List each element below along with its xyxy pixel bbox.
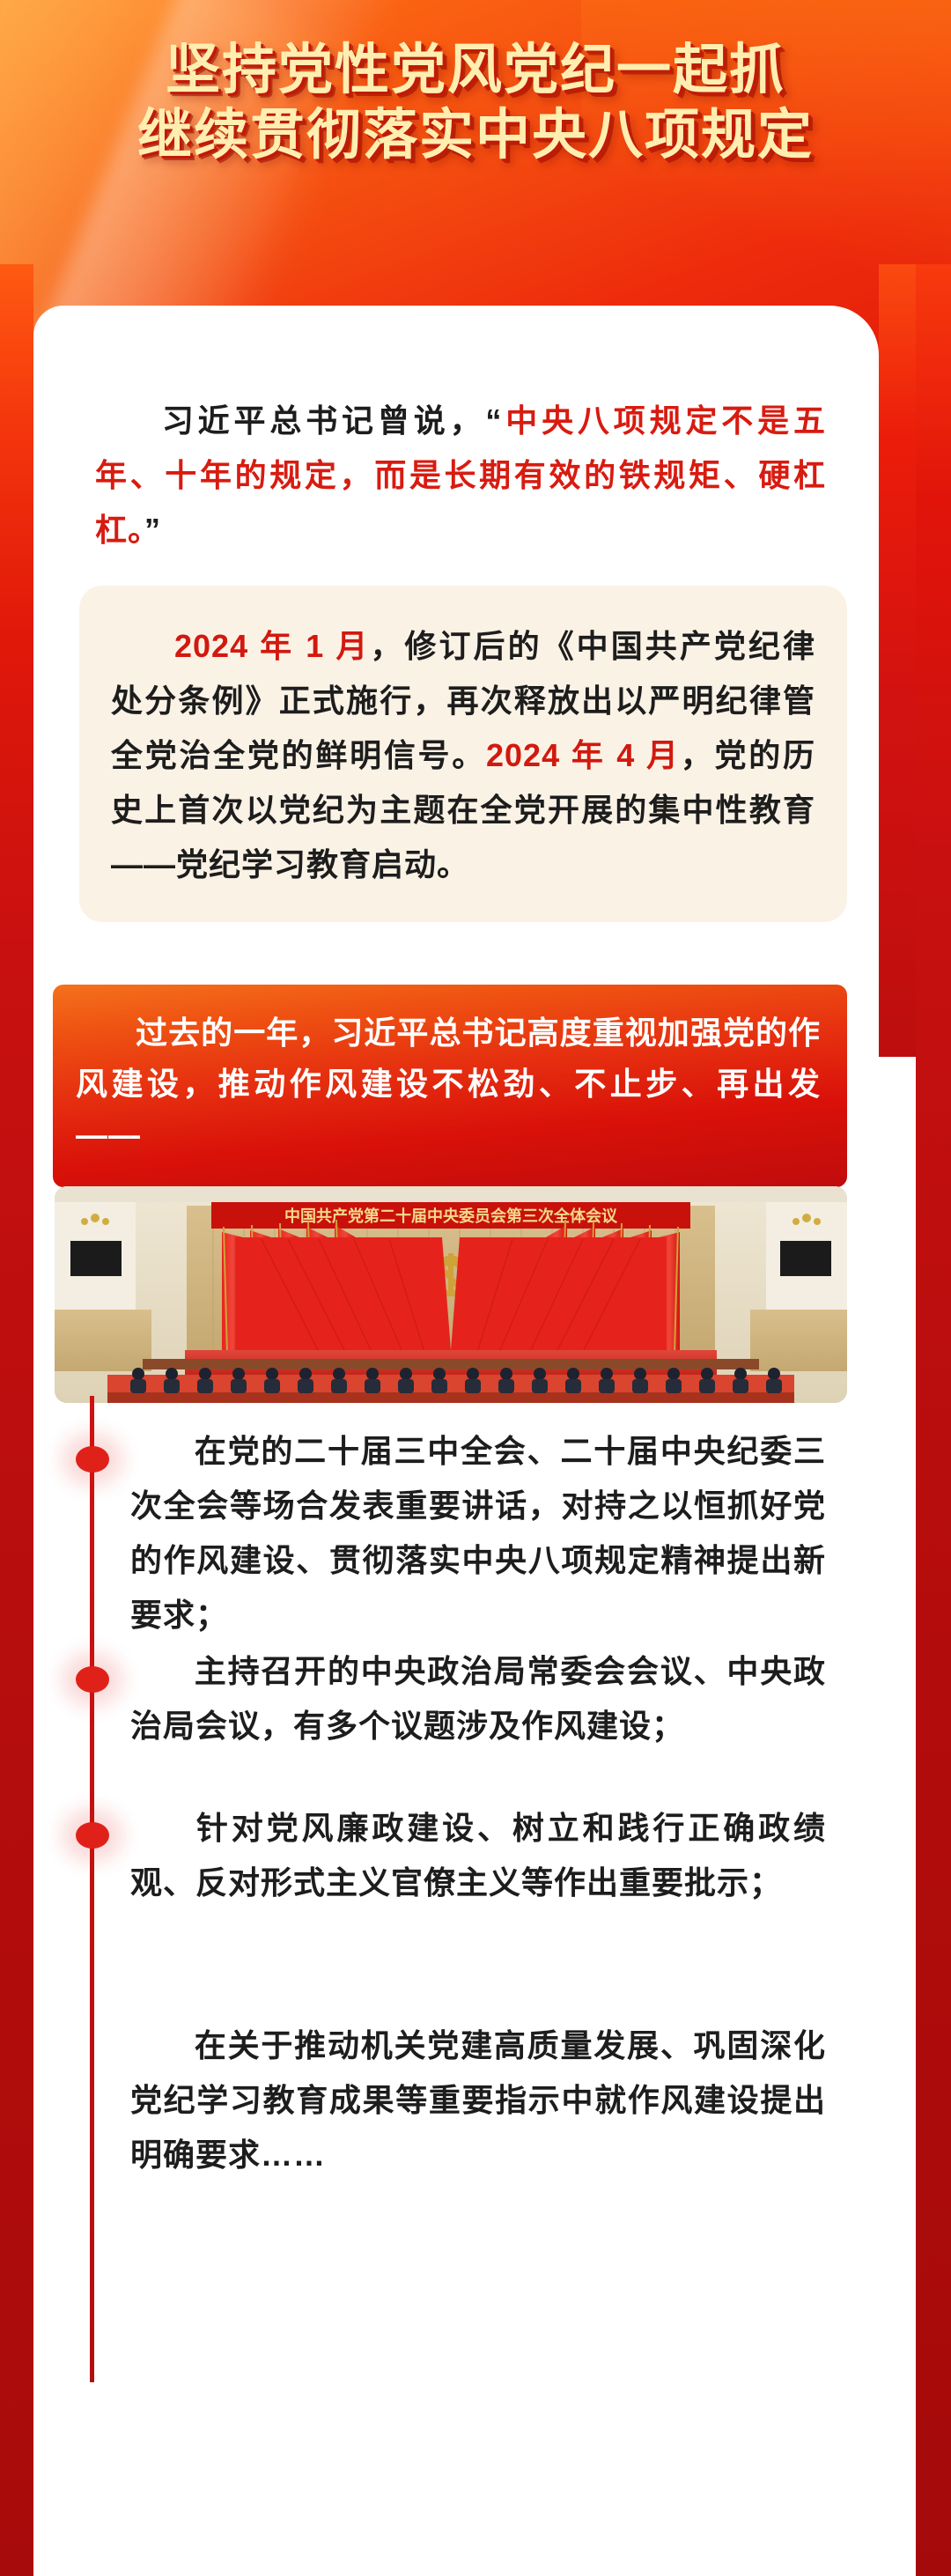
timeline-item-1-text: 在党的二十届三中全会、二十届中央纪委三次全会等场合发表重要讲话，对持之以恒抓好党… xyxy=(130,1433,826,1633)
red-highlight-banner: 过去的一年，习近平总书记高度重视加强党的作风建设，推动作风建设不松劲、不止步、再… xyxy=(53,985,847,1187)
content-card: 习近平总书记曾说，“中央八项规定不是五年、十年的规定，而是长期有效的铁规矩、硬杠… xyxy=(33,306,879,2576)
cream-paragraph: 2024 年 1 月，修订后的《中国共产党纪律处分条例》正式施行，再次释放出以严… xyxy=(111,619,815,892)
cream-info-box: 2024 年 1 月，修订后的《中国共产党纪律处分条例》正式施行，再次释放出以严… xyxy=(79,586,847,922)
svg-text:中国共产党第二十届中央委员会第三次全体会议: 中国共产党第二十届中央委员会第三次全体会议 xyxy=(284,1207,618,1226)
right-red-rail-upper xyxy=(879,264,916,1057)
page-title: 坚持党性党风党纪一起抓 继续贯彻落实中央八项规定 xyxy=(0,37,951,167)
right-red-rail xyxy=(916,264,951,2576)
left-red-rail xyxy=(0,264,33,2576)
timeline-dot-2 xyxy=(76,1666,109,1693)
quote-paragraph: 习近平总书记曾说，“中央八项规定不是五年、十年的规定，而是长期有效的铁规矩、硬杠… xyxy=(95,394,826,557)
timeline-item-1: 在党的二十届三中全会、二十届中央纪委三次全会等场合发表重要讲话，对持之以恒抓好党… xyxy=(130,1424,826,1642)
red-banner-paragraph: 过去的一年，习近平总书记高度重视加强党的作风建设，推动作风建设不松劲、不止步、再… xyxy=(76,1008,821,1161)
close-quote-mark: ” xyxy=(144,512,161,548)
poster-root: 坚持党性党风党纪一起抓 继续贯彻落实中央八项规定 习近平总书记曾说，“中央八项规… xyxy=(0,0,951,2576)
conference-hall-photo: 中国共产党第二十届中央委员会第三次全体会议 xyxy=(55,1186,847,1403)
page-title-line-1: 坚持党性党风党纪一起抓 xyxy=(0,37,951,102)
date-highlight-jan: 2024 年 1 月 xyxy=(174,628,370,664)
timeline-item-4-text: 在关于推动机关党建高质量发展、巩固深化党纪学习教育成果等重要指示中就作风建设提出… xyxy=(130,2027,826,2173)
timeline-item-2: 主持召开的中央政治局常委会会议、中央政治局会议，有多个议题涉及作风建设； xyxy=(130,1644,826,1753)
timeline-dot-1 xyxy=(76,1446,109,1473)
timeline-dot-3 xyxy=(76,1822,109,1849)
page-title-line-2: 继续贯彻落实中央八项规定 xyxy=(0,102,951,167)
timeline-item-4: 在关于推动机关党建高质量发展、巩固深化党纪学习教育成果等重要指示中就作风建设提出… xyxy=(130,2019,826,2182)
date-highlight-apr: 2024 年 4 月 xyxy=(486,737,681,773)
timeline-item-2-text: 主持召开的中央政治局常委会会议、中央政治局会议，有多个议题涉及作风建设； xyxy=(130,1653,826,1744)
timeline-vertical-line xyxy=(90,1396,94,2382)
timeline-item-3-text: 针对党风廉政建设、树立和践行正确政绩观、反对形式主义官僚主义等作出重要批示； xyxy=(130,1810,826,1901)
conference-hall-illustration: 中国共产党第二十届中央委员会第三次全体会议 xyxy=(55,1186,847,1403)
red-banner-body-text: 过去的一年，习近平总书记高度重视加强党的作风建设，推动作风建设不松劲、不止步、再… xyxy=(76,1015,821,1153)
quote-lead-text: 习近平总书记曾说， xyxy=(158,402,485,439)
timeline-item-3: 针对党风廉政建设、树立和践行正确政绩观、反对形式主义官僚主义等作出重要批示； xyxy=(130,1801,826,1910)
open-quote-mark: “ xyxy=(485,402,502,439)
